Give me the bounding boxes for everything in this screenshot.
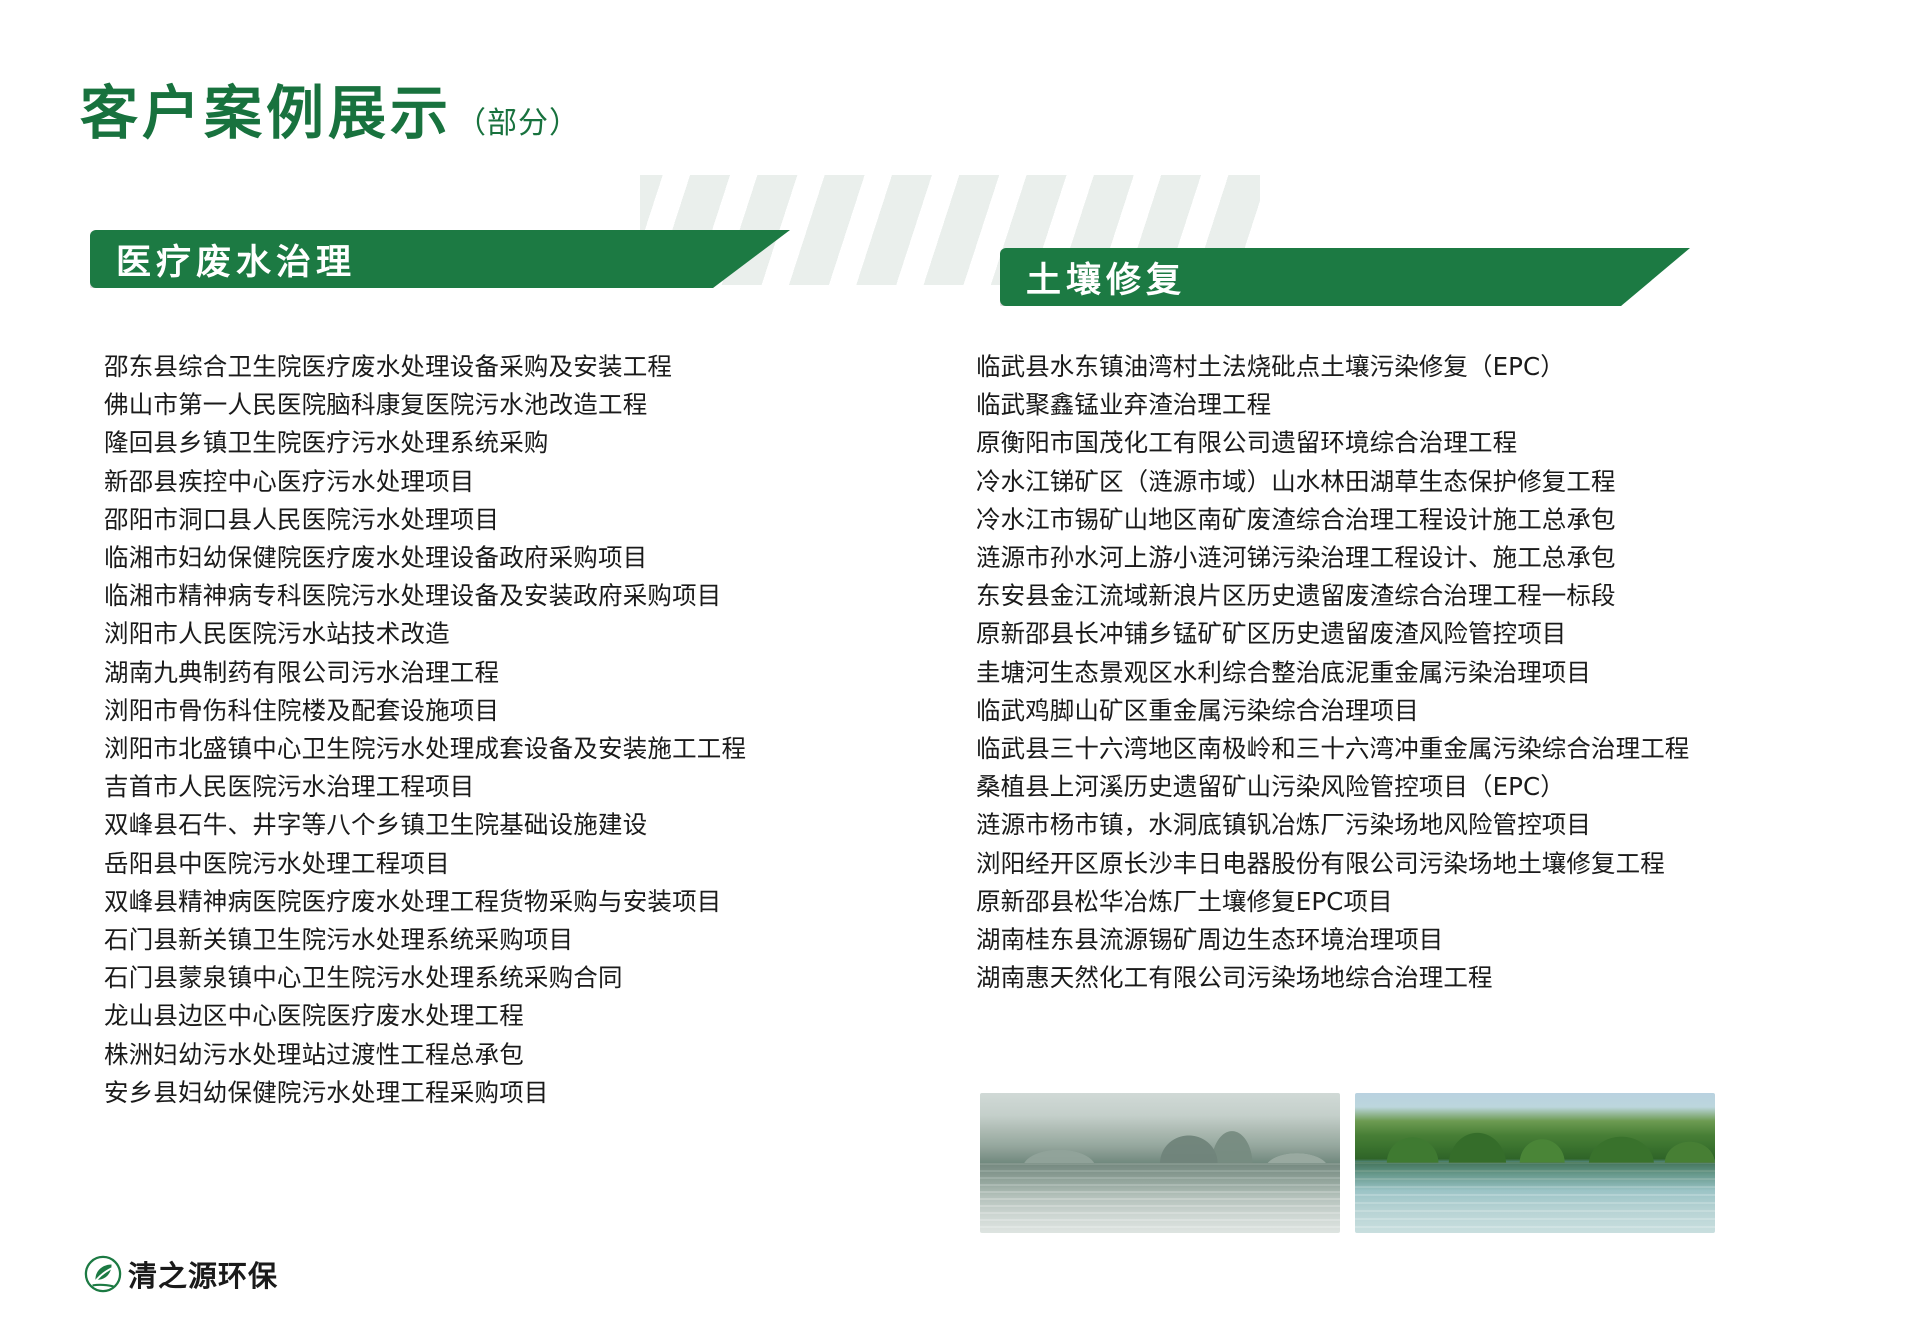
list-item: 原衡阳市国茂化工有限公司遗留环境综合治理工程 [976,424,1806,462]
list-item: 圭塘河生态景观区水利综合整治底泥重金属污染治理项目 [976,654,1806,692]
list-item: 冷水江锑矿区（涟源市域）山水林田湖草生态保护修复工程 [976,463,1806,501]
list-item: 涟源市孙水河上游小涟河锑污染治理工程设计、施工总承包 [976,539,1806,577]
page-title-main: 客户案例展示 [80,84,452,142]
list-item: 临湘市精神病专科医院污水处理设备及安装政府采购项目 [104,577,884,615]
leaf-water-logo-icon [84,1255,122,1293]
list-item: 临武鸡脚山矿区重金属污染综合治理项目 [976,692,1806,730]
list-item: 邵阳市洞口县人民医院污水处理项目 [104,501,884,539]
list-item: 临湘市妇幼保健院医疗废水处理设备政府采购项目 [104,539,884,577]
misty-karst-river-photo [980,1093,1340,1233]
section-banner-label: 医疗废水治理 [116,234,356,285]
list-item: 龙山县边区中心医院医疗废水处理工程 [104,997,884,1035]
list-item: 双峰县精神病医院医疗废水处理工程货物采购与安装项目 [104,883,884,921]
list-item: 临武聚鑫锰业弃渣治理工程 [976,386,1806,424]
case-list-medical-wastewater: 邵东县综合卫生院医疗废水处理设备采购及安装工程 佛山市第一人民医院脑科康复医院污… [104,348,884,1112]
list-item: 临武县水东镇油湾村土法烧砒点土壤污染修复（EPC） [976,348,1806,386]
list-item: 新邵县疾控中心医疗污水处理项目 [104,463,884,501]
section-banner-soil-remediation: 土壤修复 [1000,248,1690,306]
list-item: 浏阳市骨伤科住院楼及配套设施项目 [104,692,884,730]
list-item: 石门县蒙泉镇中心卫生院污水处理系统采购合同 [104,959,884,997]
list-item: 湖南九典制药有限公司污水治理工程 [104,654,884,692]
list-item: 湖南惠天然化工有限公司污染场地综合治理工程 [976,959,1806,997]
list-item: 双峰县石牛、井字等八个乡镇卫生院基础设施建设 [104,806,884,844]
list-item: 石门县新关镇卫生院污水处理系统采购项目 [104,921,884,959]
list-item: 浏阳市北盛镇中心卫生院污水处理成套设备及安装施工工程 [104,730,884,768]
page-title-sub: （部分） [456,98,580,142]
page-title: 客户案例展示 （部分） [80,84,580,142]
list-item: 安乡县妇幼保健院污水处理工程采购项目 [104,1074,884,1112]
list-item: 浏阳经开区原长沙丰日电器股份有限公司污染场地土壤修复工程 [976,845,1806,883]
list-item: 冷水江市锡矿山地区南矿废渣综合治理工程设计施工总承包 [976,501,1806,539]
footer-logo-text: 清之源环保 [128,1253,278,1295]
list-item: 岳阳县中医院污水处理工程项目 [104,845,884,883]
case-list-soil-remediation: 临武县水东镇油湾村土法烧砒点土壤污染修复（EPC） 临武聚鑫锰业弃渣治理工程 原… [976,348,1806,997]
photo-gallery [980,1093,1715,1233]
green-karst-lake-photo [1355,1093,1715,1233]
list-item: 浏阳市人民医院污水站技术改造 [104,615,884,653]
list-item: 湖南桂东县流源锡矿周边生态环境治理项目 [976,921,1806,959]
list-item: 株洲妇幼污水处理站过渡性工程总承包 [104,1036,884,1074]
list-item: 邵东县综合卫生院医疗废水处理设备采购及安装工程 [104,348,884,386]
list-item: 吉首市人民医院污水治理工程项目 [104,768,884,806]
list-item: 原新邵县松华冶炼厂土壤修复EPC项目 [976,883,1806,921]
list-item: 涟源市杨市镇，水洞底镇钒冶炼厂污染场地风险管控项目 [976,806,1806,844]
list-item: 佛山市第一人民医院脑科康复医院污水池改造工程 [104,386,884,424]
list-item: 桑植县上河溪历史遗留矿山污染风险管控项目（EPC） [976,768,1806,806]
list-item: 临武县三十六湾地区南极岭和三十六湾冲重金属污染综合治理工程 [976,730,1806,768]
list-item: 东安县金江流域新浪片区历史遗留废渣综合治理工程一标段 [976,577,1806,615]
section-banner-label: 土壤修复 [1026,252,1186,303]
list-item: 隆回县乡镇卫生院医疗污水处理系统采购 [104,424,884,462]
section-banner-medical-wastewater: 医疗废水治理 [90,230,790,288]
list-item: 原新邵县长冲铺乡锰矿矿区历史遗留废渣风险管控项目 [976,615,1806,653]
footer-logo: 清之源环保 [84,1253,278,1295]
